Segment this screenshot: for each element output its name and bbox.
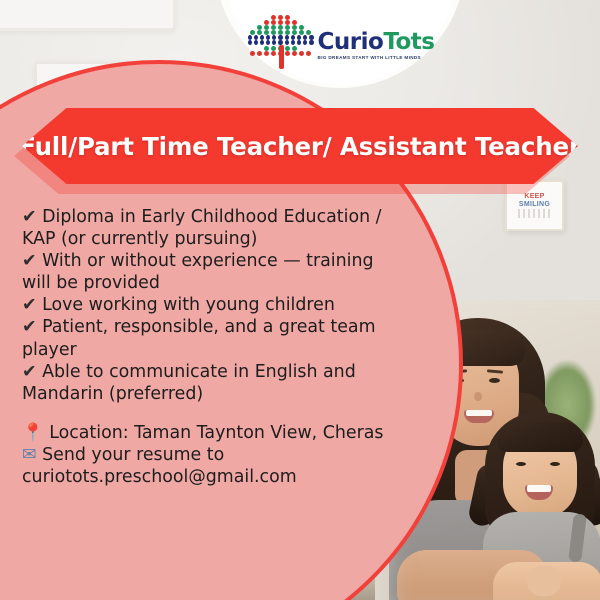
requirements-list: ✔ Diploma in Early Childhood Education /… bbox=[22, 206, 390, 405]
tree-dot bbox=[254, 40, 258, 45]
poster-canvas: stand tall KEEP SMILING bbox=[0, 0, 600, 600]
tree-dot bbox=[309, 40, 313, 45]
tree-dot bbox=[292, 51, 297, 56]
logo-name: CurioTots bbox=[318, 31, 435, 54]
location-line: 📍 Location: Taman Taynton View, Cheras bbox=[22, 422, 390, 444]
requirement-item: ✔ Patient, responsible, and a great team… bbox=[22, 316, 390, 360]
email-prompt-text: Send your resume to bbox=[42, 445, 224, 465]
check-icon: ✔ bbox=[22, 295, 37, 315]
requirement-item: ✔ Diploma in Early Childhood Education /… bbox=[22, 206, 390, 250]
contact-block: 📍 Location: Taman Taynton View, Cheras ✉… bbox=[22, 422, 390, 488]
tree-dot bbox=[306, 51, 311, 56]
requirement-item: ✔ Able to communicate in English and Man… bbox=[22, 361, 390, 405]
tree-logo-icon bbox=[248, 15, 314, 77]
tree-dot bbox=[264, 51, 269, 56]
requirement-item: ✔ With or without experience — training … bbox=[22, 250, 390, 294]
tree-dot bbox=[248, 40, 252, 45]
tree-dot bbox=[271, 51, 276, 56]
tree-dot bbox=[257, 51, 262, 56]
tree-dot bbox=[266, 40, 270, 45]
requirement-text: Patient, responsible, and a great team p… bbox=[22, 317, 376, 359]
requirement-text: With or without experience — training wi… bbox=[22, 251, 374, 293]
location-pin-icon: 📍 bbox=[22, 423, 44, 443]
job-title-text: Full/Part Time Teacher/ Assistant Teache… bbox=[19, 132, 581, 161]
tree-dot bbox=[297, 40, 301, 45]
requirement-text: Diploma in Early Childhood Education / K… bbox=[22, 207, 382, 249]
tree-dot bbox=[299, 51, 304, 56]
check-icon: ✔ bbox=[22, 317, 37, 337]
location-text: Location: Taman Taynton View, Cheras bbox=[49, 423, 383, 443]
logo-wordmark: CurioTots BIG DREAMS START WITH LITTLE M… bbox=[318, 31, 435, 61]
check-icon: ✔ bbox=[22, 207, 37, 227]
requirements-content: ✔ Diploma in Early Childhood Education /… bbox=[22, 206, 390, 488]
job-title-banner: Full/Part Time Teacher/ Assistant Teache… bbox=[22, 108, 578, 184]
logo-tagline: BIG DREAMS START WITH LITTLE MINDS bbox=[318, 56, 421, 61]
email-address-line[interactable]: curiotots.preschool@gmail.com bbox=[22, 466, 390, 488]
envelope-icon: ✉ bbox=[22, 445, 37, 465]
logo-lockup: CurioTots BIG DREAMS START WITH LITTLE M… bbox=[248, 15, 435, 77]
requirement-item: ✔ Love working with young children bbox=[22, 294, 390, 316]
requirement-text: Able to communicate in English and Manda… bbox=[22, 362, 356, 404]
logo-name-part2: Tots bbox=[383, 29, 434, 55]
check-icon: ✔ bbox=[22, 362, 37, 382]
tree-dot bbox=[250, 51, 255, 56]
wall-frame-large bbox=[0, 0, 176, 31]
logo-name-part1: Curio bbox=[318, 29, 384, 55]
poster-line-1: KEEP bbox=[524, 193, 544, 200]
tree-dot bbox=[272, 40, 276, 45]
tree-dot bbox=[303, 40, 307, 45]
check-icon: ✔ bbox=[22, 251, 37, 271]
tree-trunk bbox=[279, 45, 284, 69]
tree-dot bbox=[291, 40, 295, 45]
tree-dot bbox=[285, 40, 289, 45]
requirement-text: Love working with young children bbox=[37, 295, 335, 315]
tree-dot bbox=[260, 40, 264, 45]
poster-line-2: SMILING bbox=[519, 201, 550, 208]
email-prompt-line: ✉ Send your resume to bbox=[22, 444, 390, 466]
poster-decor bbox=[518, 209, 552, 218]
tree-dot bbox=[285, 51, 290, 56]
brand-logo-badge: CurioTots BIG DREAMS START WITH LITTLE M… bbox=[225, 0, 457, 85]
